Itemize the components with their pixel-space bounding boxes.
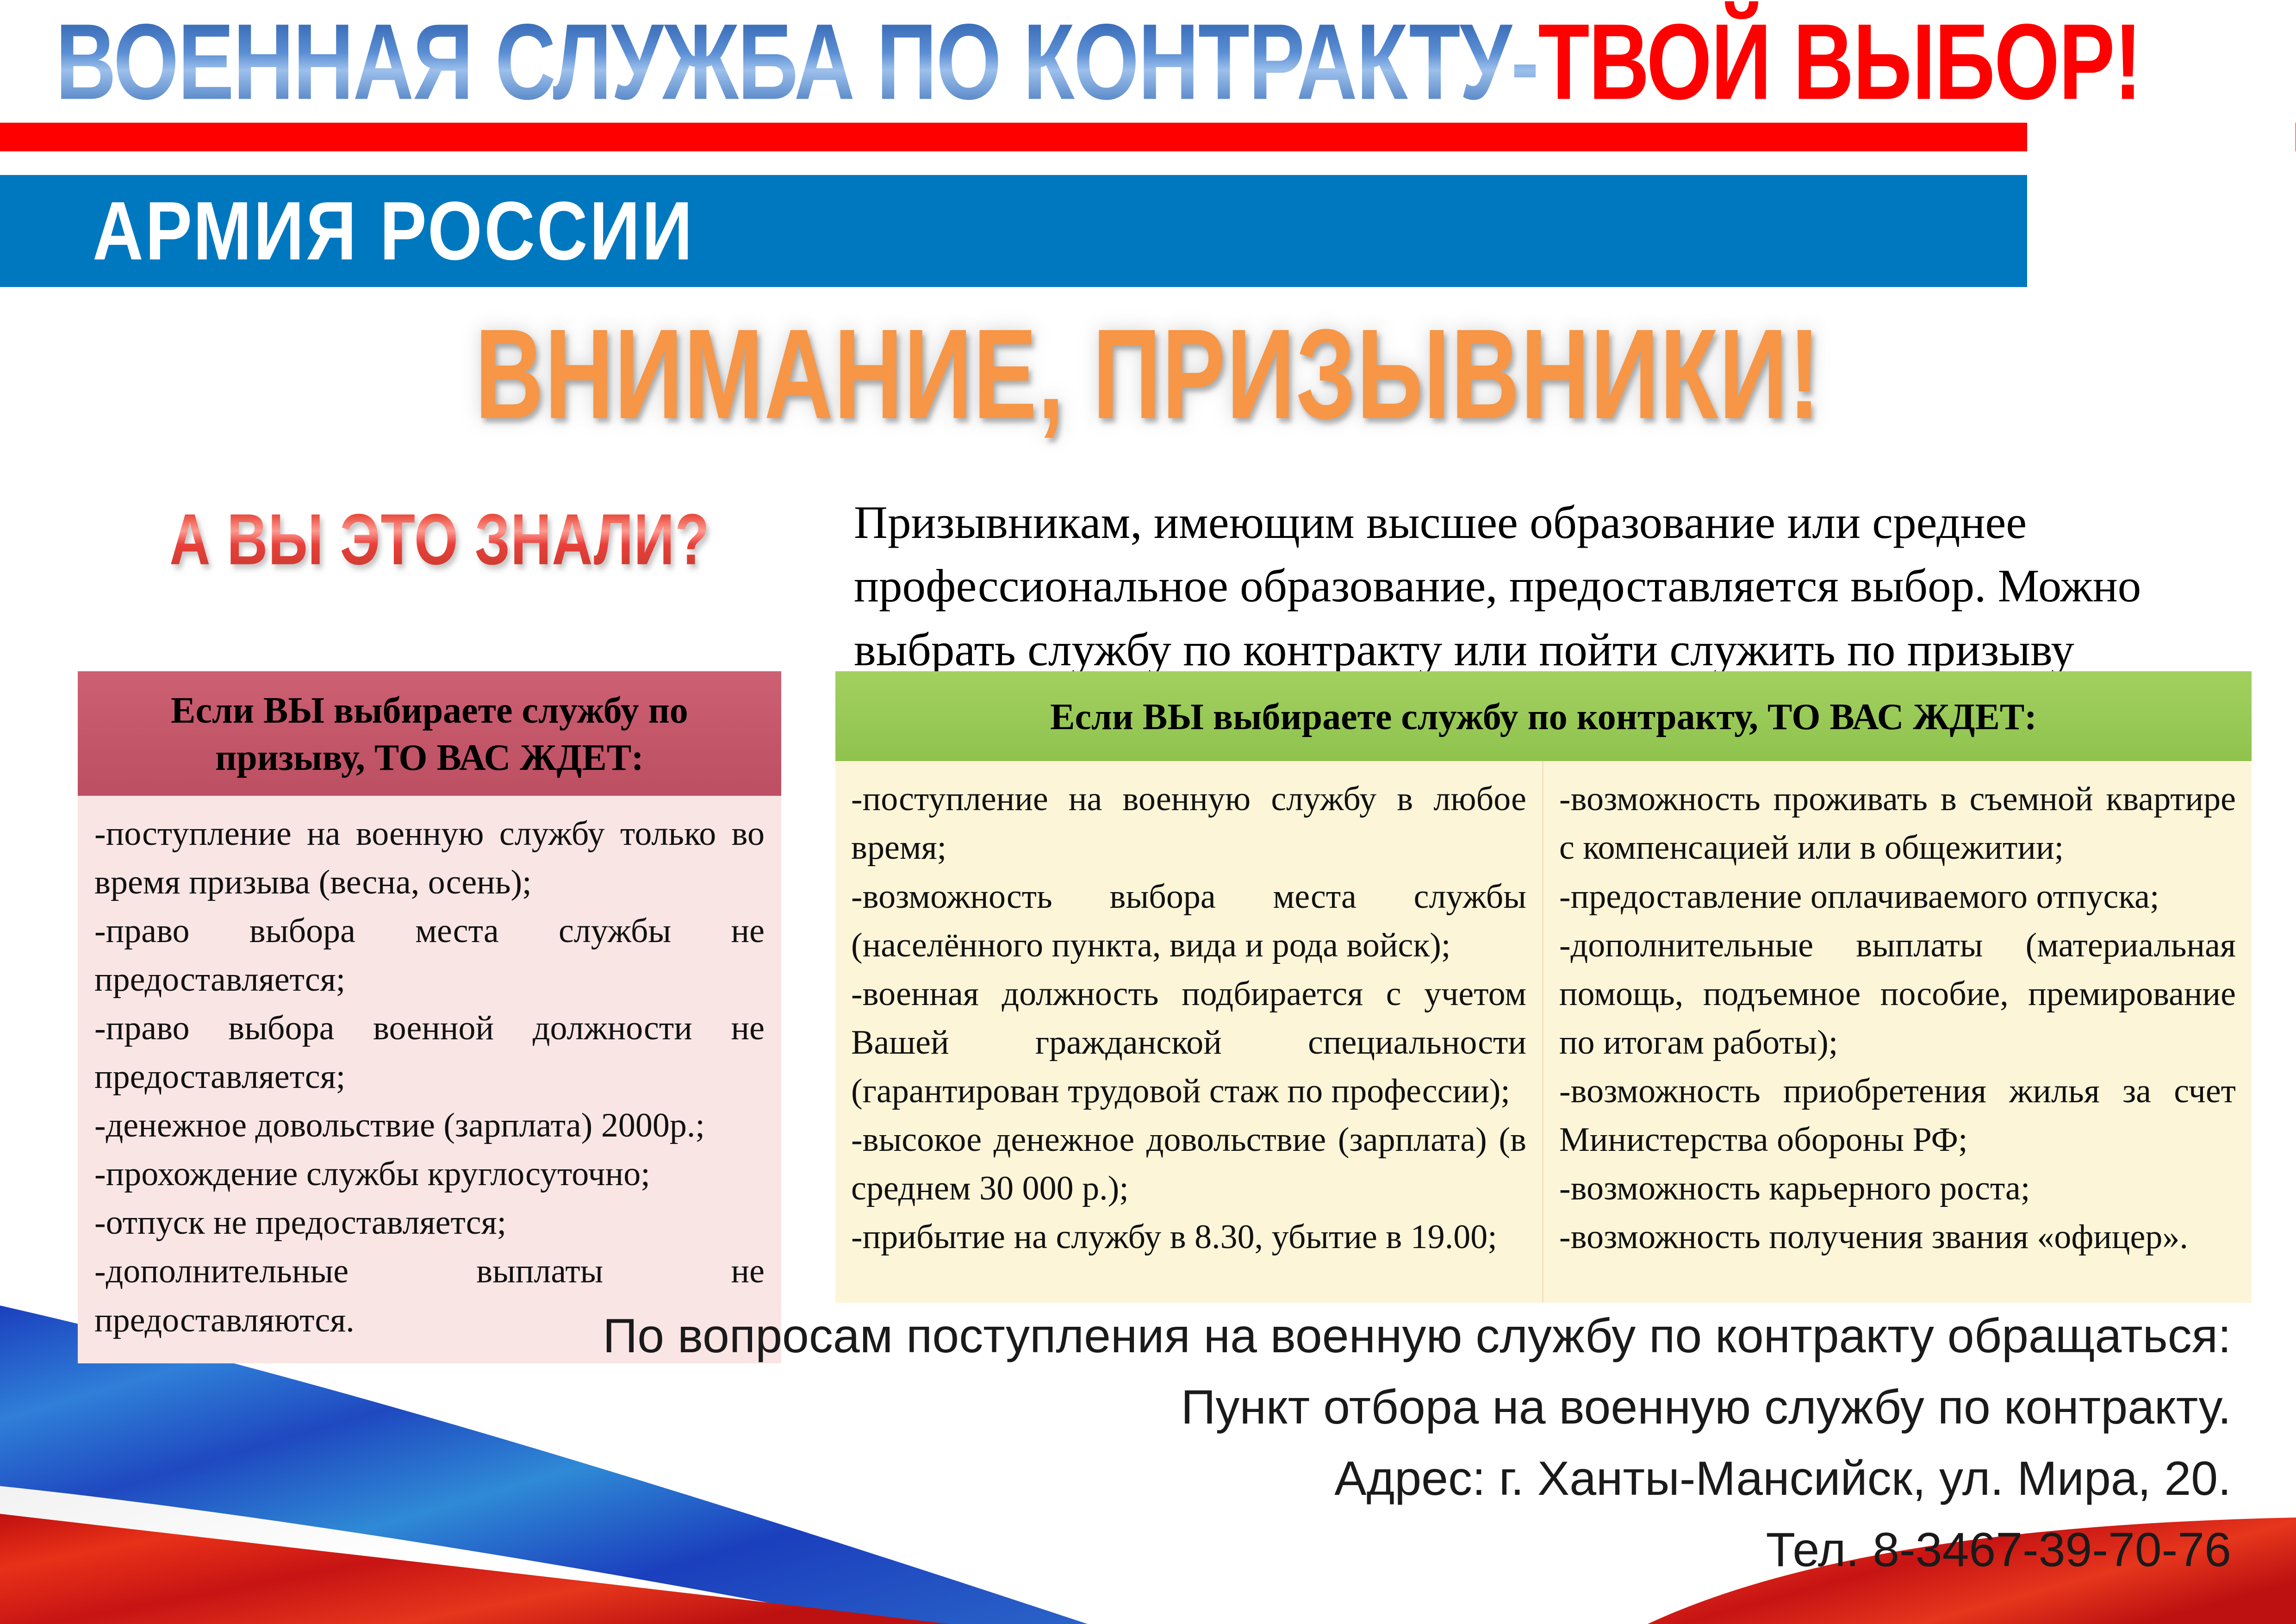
headline-blue-text: ВОЕННАЯ СЛУЖБА ПО КОНТРАКТУ-: [56, 7, 1538, 115]
list-item: -дополнительные выплаты (материальная по…: [1559, 921, 2236, 1067]
list-item: -отпуск не предоставляется;: [94, 1199, 765, 1247]
list-item: -возможность карьерного роста;: [1559, 1164, 2236, 1213]
contact-block: По вопросам поступления на военную служб…: [584, 1301, 2231, 1586]
red-stripe-bar: [0, 123, 2296, 151]
intro-paragraph: Призывникам, имеющим высшее образование …: [854, 491, 2247, 681]
contact-line-office: Пункт отбора на военную службу по контра…: [584, 1372, 2231, 1443]
list-item: -военная должность подбирается с учетом …: [851, 970, 1526, 1116]
list-item: -право выбора военной должности не предо…: [94, 1004, 765, 1101]
list-item: -возможность выбора места службы (населё…: [851, 873, 1526, 970]
conscription-panel: Если ВЫ выбираете службу по призыву, ТО …: [78, 671, 781, 1363]
contact-line-address: Адрес: г. Ханты-Мансийск, ул. Мира, 20.: [584, 1443, 2231, 1515]
list-item: -поступление на военную службу только во…: [94, 810, 765, 907]
contact-line-intro: По вопросам поступления на военную служб…: [584, 1301, 2231, 1372]
list-item: -денежное довольствие (зарплата) 2000р.;: [94, 1101, 765, 1150]
contact-line-phone: Тел. 8-3467-39-70-76: [584, 1515, 2231, 1586]
conscription-panel-body: -поступление на военную службу только во…: [78, 796, 781, 1363]
contract-column-left: -поступление на военную службу в любое в…: [835, 761, 1543, 1303]
contract-panel-body: -поступление на военную службу в любое в…: [835, 761, 2252, 1303]
list-item: -высокое денежное довольствие (зарплата)…: [851, 1116, 1526, 1213]
army-russia-label: АРМИЯ РОССИИ: [93, 165, 694, 297]
list-item: -возможность приобретения жилья за счет …: [1559, 1067, 2236, 1164]
list-item: -прохождение службы круглосуточно;: [94, 1150, 765, 1199]
attention-title: ВНИМАНИЕ, ПРИЗЫВНИКИ!: [0, 301, 2296, 448]
list-item: -поступление на военную службу в любое в…: [851, 775, 1526, 872]
top-headline: ВОЕННАЯ СЛУЖБА ПО КОНТРАКТУ-ТВОЙ ВЫБОР!: [0, 0, 2111, 123]
headline-red-text: ТВОЙ ВЫБОР!: [1538, 7, 2141, 115]
list-item: -право выбора места службы не предоставл…: [94, 907, 765, 1004]
list-item: -предоставление оплачиваемого отпуска;: [1559, 873, 2236, 921]
contract-panel-heading: Если ВЫ выбираете службу по контракту, Т…: [835, 671, 2252, 761]
did-you-know-title: А ВЫ ЭТО ЗНАЛИ?: [56, 498, 824, 581]
contract-column-right: -возможность проживать в съемной квартир…: [1543, 761, 2252, 1303]
contract-panel: Если ВЫ выбираете службу по контракту, Т…: [835, 671, 2252, 1303]
list-item: -прибытие на службу в 8.30, убытие в 19.…: [851, 1213, 1526, 1262]
conscription-panel-heading: Если ВЫ выбираете службу по призыву, ТО …: [78, 671, 781, 796]
list-item: -возможность проживать в съемной квартир…: [1559, 775, 2236, 872]
list-item: -возможность получения звания «офицер».: [1559, 1213, 2236, 1262]
